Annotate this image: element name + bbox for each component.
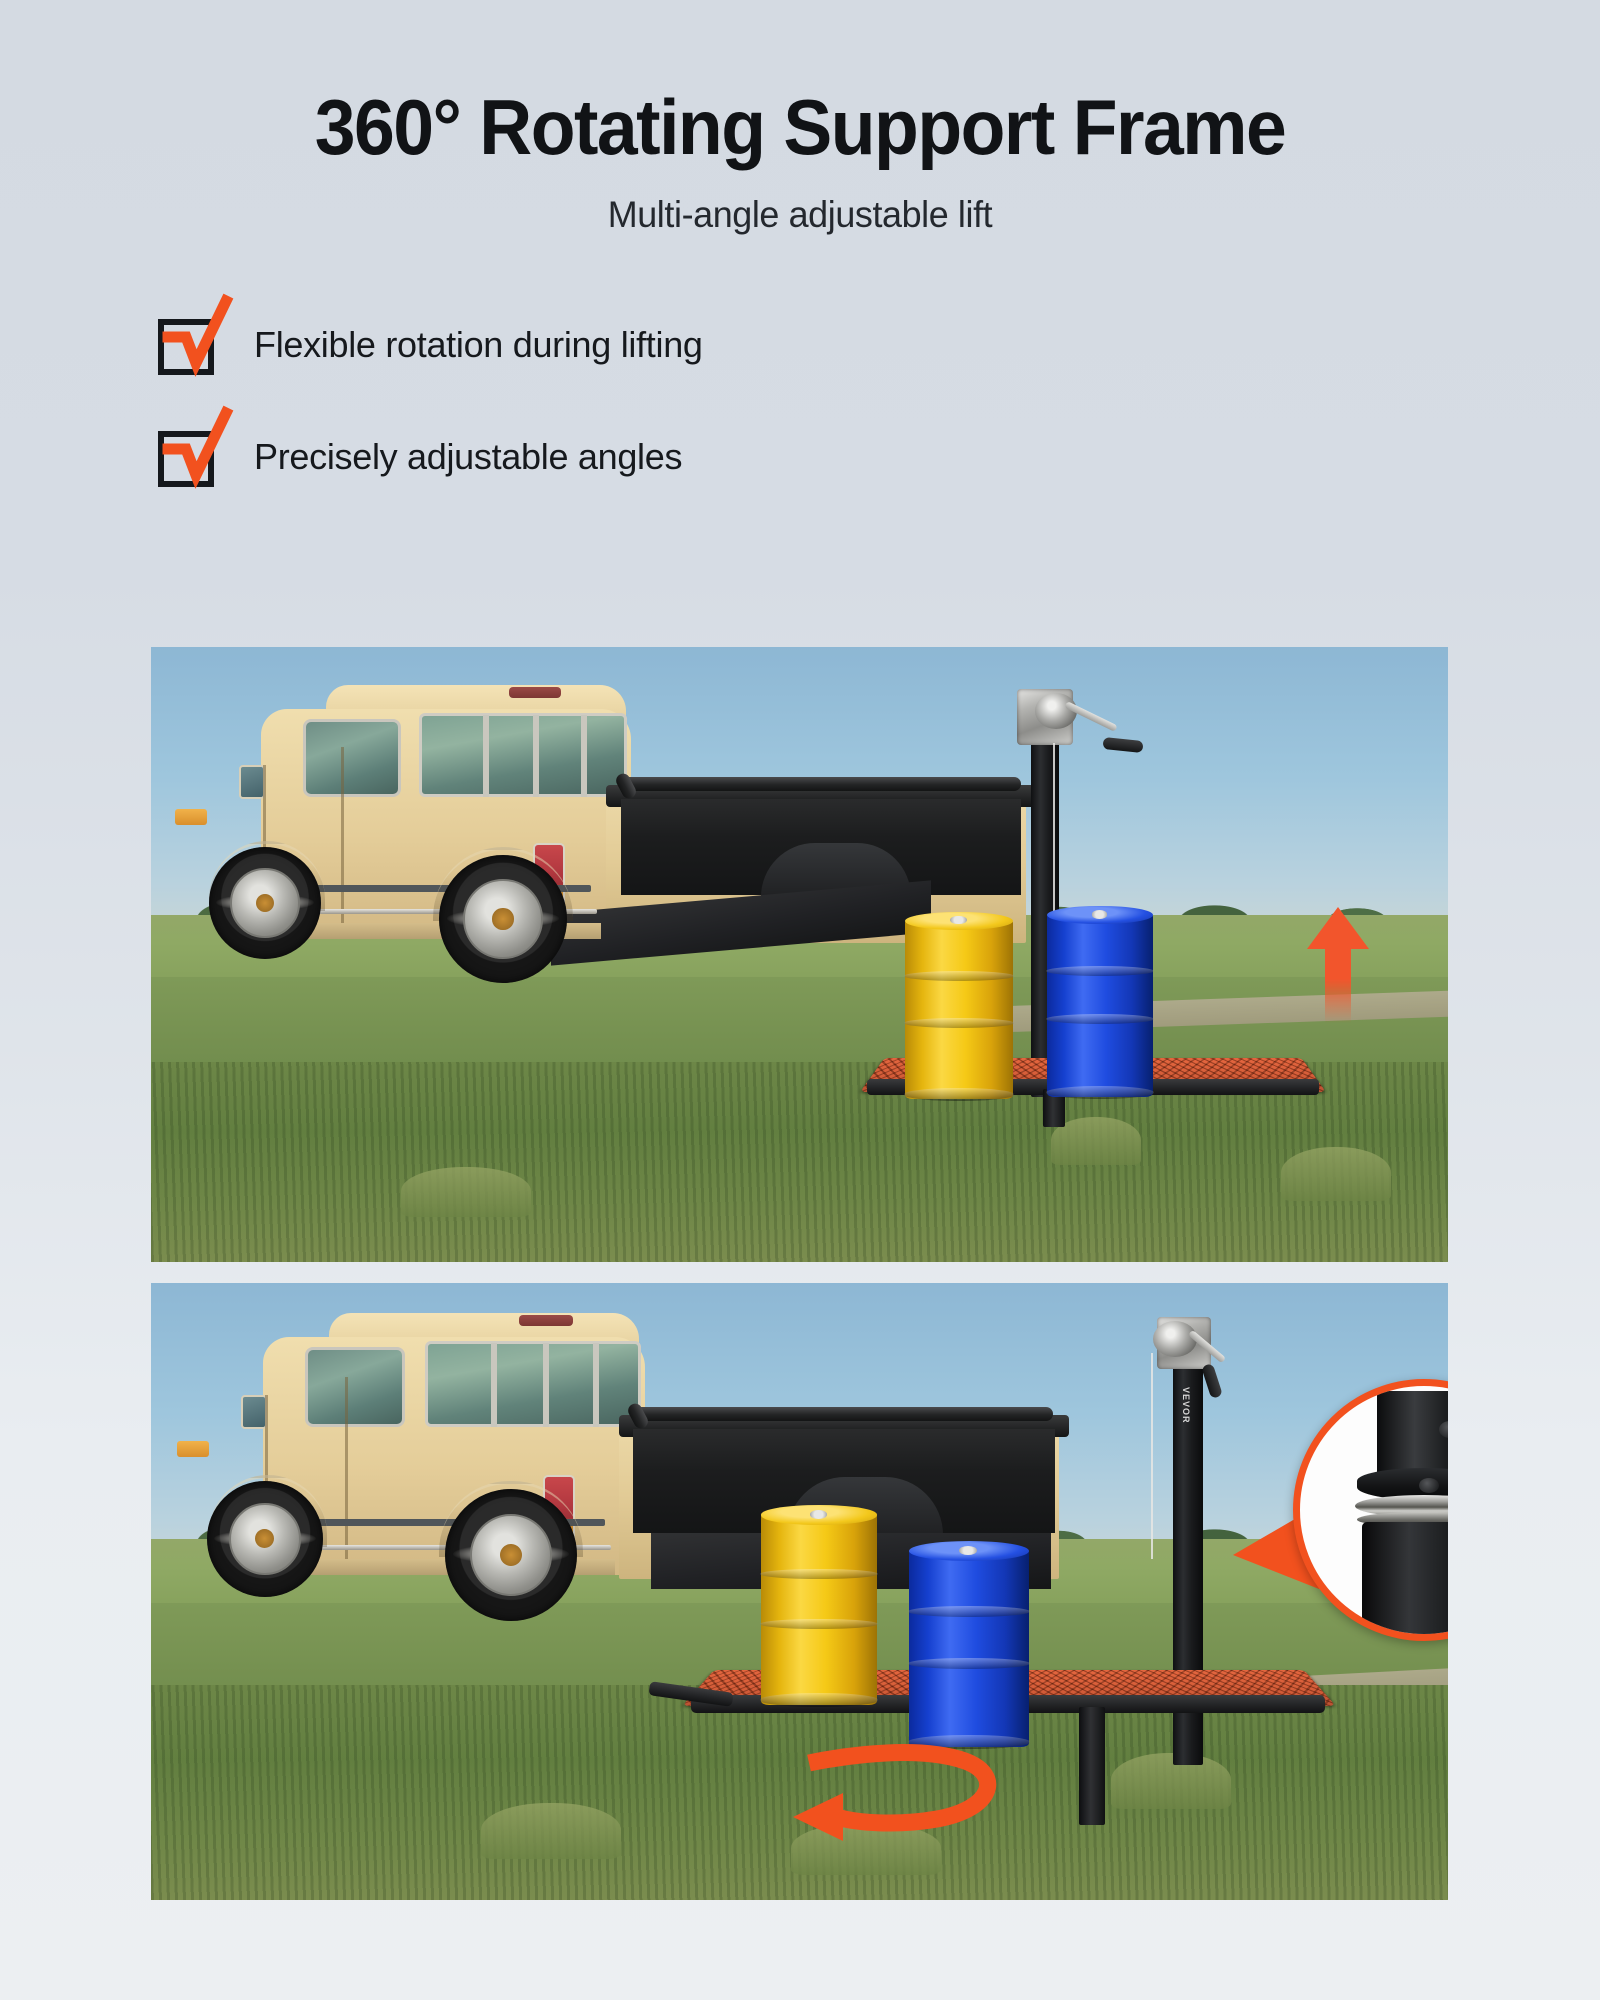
feature-label-0: Flexible rotation during lifting: [254, 324, 703, 366]
platform-leg: [1079, 1707, 1105, 1825]
yellow-drum: [905, 919, 1013, 1099]
swivel-joint-detail: [1293, 1379, 1448, 1641]
feature-item-0: Flexible rotation during lifting: [158, 314, 1600, 376]
rotation-arrow: [787, 1727, 1027, 1857]
yellow-drum: [761, 1513, 877, 1705]
rear-wheel: [439, 855, 567, 983]
grass-tuft: [401, 1167, 531, 1217]
grass-tuft: [1111, 1753, 1231, 1809]
product-photo-platform-raised: VEVOR: [151, 1283, 1448, 1900]
feature-label-1: Precisely adjustable angles: [254, 436, 682, 478]
swivel-bolt-icon: [1419, 1478, 1439, 1493]
page-subtitle: Multi-angle adjustable lift: [24, 194, 1576, 236]
inset-circle: [1293, 1379, 1448, 1641]
blue-drum: [1047, 913, 1153, 1097]
checkbox-check-icon: [156, 409, 246, 499]
page-title: 360° Rotating Support Frame: [48, 88, 1552, 168]
checkbox-checked-0: [158, 315, 218, 375]
grass-tuft: [481, 1803, 621, 1859]
field-scene: [151, 647, 1448, 1262]
rear-wheel: [445, 1489, 577, 1621]
blue-drum: [909, 1549, 1029, 1747]
lift-up-arrow: [1303, 905, 1373, 1025]
feature-item-1: Precisely adjustable angles: [158, 426, 1600, 488]
swivel-lower-tube: [1362, 1522, 1448, 1639]
front-wheel: [209, 847, 321, 959]
checkbox-check-icon: [156, 297, 246, 387]
feature-list: Flexible rotation during lifting Precise…: [0, 314, 1600, 488]
winch-drum: [1153, 1321, 1197, 1357]
field-scene: VEVOR: [151, 1283, 1448, 1900]
front-wheel: [207, 1481, 323, 1597]
checkbox-checked-1: [158, 427, 218, 487]
brand-label: VEVOR: [1181, 1387, 1191, 1424]
winch-cable: [1151, 1353, 1153, 1559]
grass-tuft: [1281, 1147, 1391, 1201]
product-photo-platform-lowered: [151, 647, 1448, 1262]
page-header: 360° Rotating Support Frame Multi-angle …: [0, 0, 1600, 236]
winch-drum: [1035, 693, 1077, 729]
